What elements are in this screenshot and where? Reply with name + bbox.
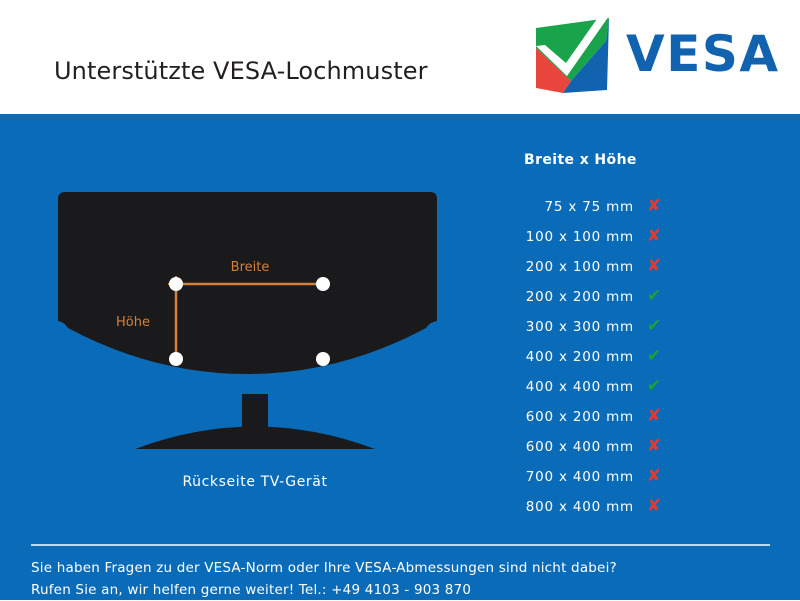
tv-diagram-caption: Rückseite TV-Gerät (40, 474, 470, 490)
table-rows-container: 75 x 75 mm✘100 x 100 mm✘200 x 100 mm✘200… (498, 191, 698, 521)
table-row: 300 x 300 mm✔ (498, 311, 698, 341)
pattern-size-label: 200 x 100 mm (498, 252, 634, 282)
pattern-size-label: 400 x 400 mm (498, 372, 634, 402)
page-title: Unterstützte VESA-Lochmuster (54, 57, 428, 85)
vesa-logo: VESA (531, 15, 786, 97)
tv-illustration: Breite Höhe (40, 189, 470, 479)
cross-icon: ✘ (634, 191, 674, 221)
pattern-size-label: 100 x 100 mm (498, 222, 634, 252)
table-column-header: Breite x Höhe (498, 152, 698, 168)
table-row: 400 x 200 mm✔ (498, 341, 698, 371)
cross-icon: ✘ (634, 251, 674, 281)
cross-icon: ✘ (634, 221, 674, 251)
pattern-size-label: 600 x 200 mm (498, 402, 634, 432)
cross-icon: ✘ (634, 431, 674, 461)
footer-contact-text: Sie haben Fragen zu der VESA-Norm oder I… (31, 557, 791, 601)
table-row: 800 x 400 mm✘ (498, 491, 698, 521)
check-icon: ✔ (634, 371, 674, 401)
check-icon: ✔ (634, 281, 674, 311)
pattern-size-label: 400 x 200 mm (498, 342, 634, 372)
check-icon: ✔ (634, 311, 674, 341)
pattern-size-label: 200 x 200 mm (498, 282, 634, 312)
table-row: 75 x 75 mm✘ (498, 191, 698, 221)
table-row: 100 x 100 mm✘ (498, 221, 698, 251)
table-row: 600 x 200 mm✘ (498, 401, 698, 431)
table-row: 700 x 400 mm✘ (498, 461, 698, 491)
pattern-size-label: 600 x 400 mm (498, 432, 634, 462)
check-icon: ✔ (634, 341, 674, 371)
page-header: Unterstützte VESA-Lochmuster VESA (0, 0, 800, 114)
mount-hole-top-left (169, 277, 183, 291)
vesa-pattern-table: Breite x Höhe 75 x 75 mm✘100 x 100 mm✘20… (498, 152, 698, 521)
vesa-info-page: Unterstützte VESA-Lochmuster VESA (0, 0, 800, 600)
content-panel: Breite Höhe Rückseite TV-Gerät Breite x … (0, 114, 800, 600)
mount-hole-top-right (316, 277, 330, 291)
pattern-size-label: 700 x 400 mm (498, 462, 634, 492)
cross-icon: ✘ (634, 401, 674, 431)
cross-icon: ✘ (634, 491, 674, 521)
vesa-logo-icon (531, 15, 611, 95)
cross-icon: ✘ (634, 461, 674, 491)
tv-back-diagram: Breite Höhe Rückseite TV-Gerät (40, 189, 470, 529)
footer-line-1: Sie haben Fragen zu der VESA-Norm oder I… (31, 557, 791, 579)
table-row: 200 x 100 mm✘ (498, 251, 698, 281)
mount-hole-bottom-left (169, 352, 183, 366)
pattern-size-label: 75 x 75 mm (498, 192, 634, 222)
mount-hole-bottom-right (316, 352, 330, 366)
width-label: Breite (231, 260, 270, 275)
table-row: 200 x 200 mm✔ (498, 281, 698, 311)
pattern-size-label: 300 x 300 mm (498, 312, 634, 342)
vesa-logo-wordmark: VESA (626, 28, 780, 80)
height-label: Höhe (116, 315, 150, 330)
tv-stand-neck (242, 394, 268, 434)
pattern-size-label: 800 x 400 mm (498, 492, 634, 522)
footer-divider (31, 544, 770, 546)
table-row: 400 x 400 mm✔ (498, 371, 698, 401)
footer-line-2: Rufen Sie an, wir helfen gerne weiter! T… (31, 579, 791, 601)
table-row: 600 x 400 mm✘ (498, 431, 698, 461)
